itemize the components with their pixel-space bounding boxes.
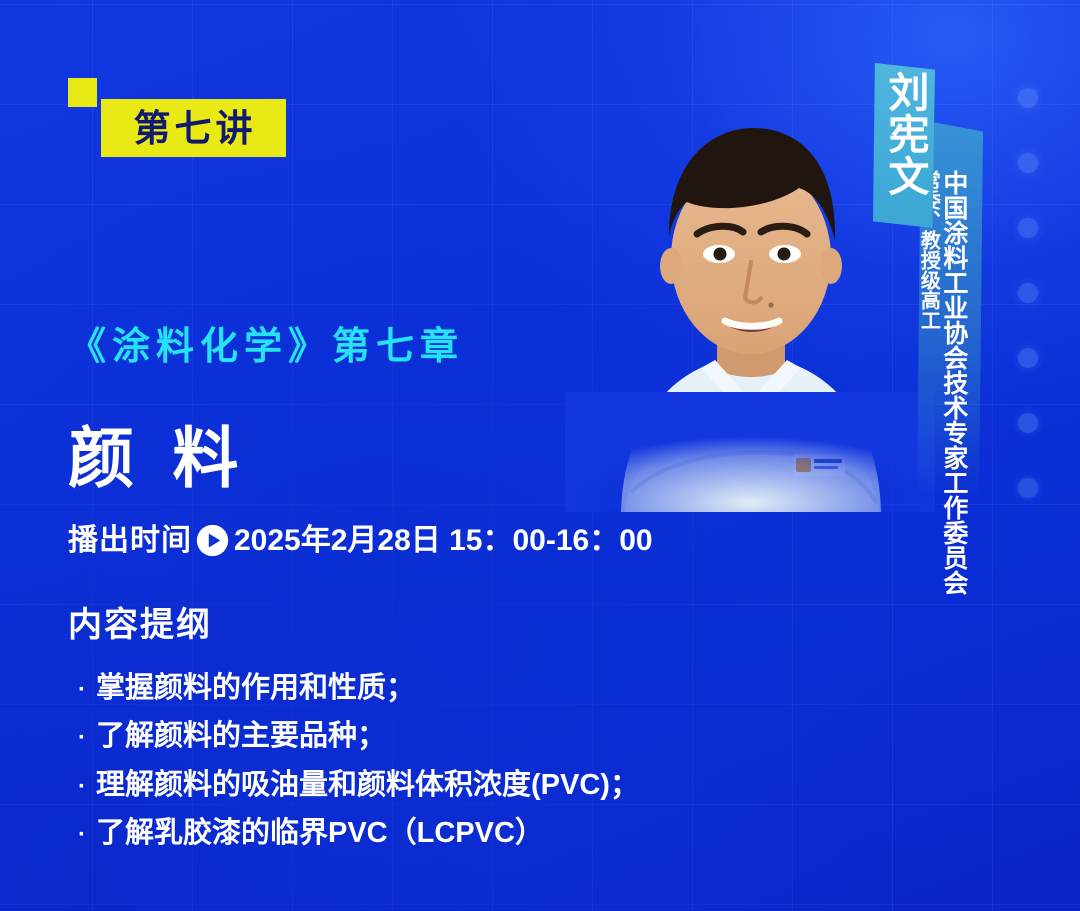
outline-item-text: 了解乳胶漆的临界PVC（LCPVC） (96, 817, 544, 849)
outline-item-text: 了解颜料的主要品种； (96, 720, 386, 752)
outline-item: · 了解颜料的主要品种； (78, 720, 978, 752)
decorative-dot (1018, 348, 1038, 368)
lecture-poster: 第七讲 (0, 0, 1080, 911)
decorative-dot (1018, 153, 1038, 173)
outline-item-text: 掌握颜料的作用和性质； (96, 672, 415, 704)
outline-heading: 内容提纲 (68, 608, 212, 642)
decorative-dot-column (1018, 88, 1040, 498)
play-icon[interactable] (196, 524, 229, 557)
airtime-row: 播出时间 2025年2月28日 15：00-16：00 (68, 524, 653, 557)
speaker-name-banner: 刘宪文 (873, 63, 935, 228)
outline-item: · 掌握颜料的作用和性质； (78, 672, 978, 704)
credential-right-text: 中国涂料工业协会技术专家工作委员会 (940, 170, 966, 500)
outline-bullet: · (78, 823, 86, 847)
course-subtitle: 《涂料化学》第七章 (68, 328, 464, 366)
outline-bullet: · (78, 678, 86, 702)
outline-item: · 了解乳胶漆的临界PVC（LCPVC） (78, 817, 978, 849)
outline-list: · 掌握颜料的作用和性质； · 了解颜料的主要品种； · 理解颜料的吸油量和颜料… (78, 672, 978, 850)
speaker-name: 刘宪文 (882, 71, 926, 197)
decorative-dot (1018, 283, 1038, 303)
decorative-dot (1018, 413, 1038, 433)
outline-item-text: 理解颜料的吸油量和颜料体积浓度(PVC)； (96, 769, 639, 801)
airtime-label: 播出时间 (68, 526, 192, 556)
badge-bar: 第七讲 (101, 99, 286, 157)
decorative-dot (1018, 88, 1038, 108)
outline-item: · 理解颜料的吸油量和颜料体积浓度(PVC)； (78, 769, 978, 801)
course-title: 颜 料 (68, 425, 248, 491)
decorative-dot (1018, 218, 1038, 238)
airtime-value: 2025年2月28日 15：00-16：00 (234, 526, 653, 556)
outline-bullet: · (78, 726, 86, 750)
badge-accent-square (68, 78, 97, 107)
decorative-dot (1018, 478, 1038, 498)
badge-label: 第七讲 (131, 110, 257, 147)
outline-bullet: · (78, 775, 86, 799)
